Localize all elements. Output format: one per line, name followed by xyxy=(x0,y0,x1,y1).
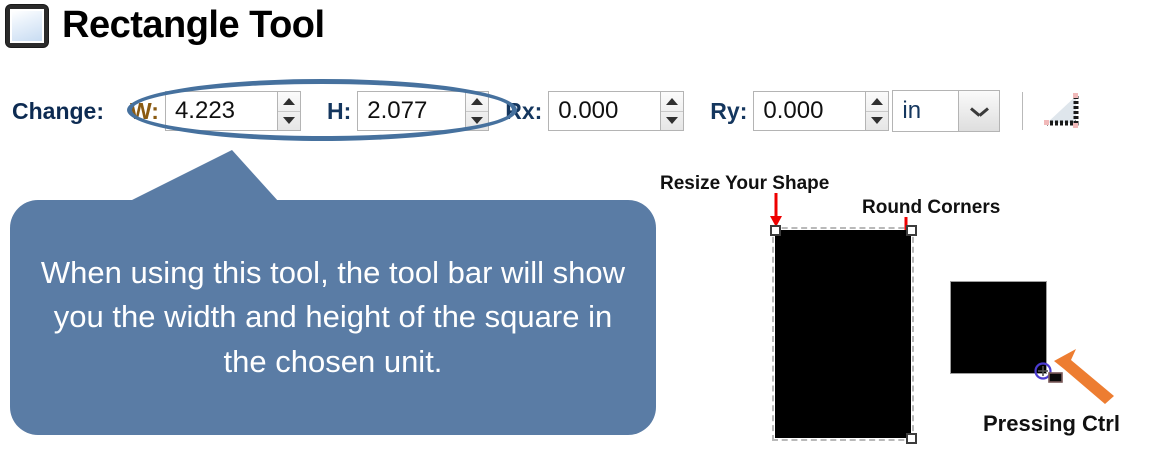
triangle-up-icon xyxy=(471,98,483,105)
height-label: H: xyxy=(327,98,351,125)
red-arrow-down-icon xyxy=(768,193,784,229)
unit-select-value: in xyxy=(893,91,958,131)
rx-label: Rx: xyxy=(505,98,542,125)
shape-toolbar: Change: W: 4.223 H: 2.077 Rx: 0.000 xyxy=(12,88,1083,134)
height-input[interactable]: 2.077 xyxy=(357,91,465,131)
resize-label: Resize Your Shape xyxy=(660,173,829,195)
callout-body: When using this tool, the tool bar will … xyxy=(10,200,656,435)
selected-rectangle-shape[interactable] xyxy=(775,230,911,438)
width-spin-buttons[interactable] xyxy=(277,91,301,131)
rectangle-tool-icon-fill xyxy=(10,9,44,43)
triangle-down-icon xyxy=(666,117,678,124)
sharp-corner-icon[interactable] xyxy=(1043,93,1083,129)
page-title-row: Rectangle Tool xyxy=(6,4,325,47)
width-label: W: xyxy=(130,98,159,125)
height-spin-down[interactable] xyxy=(466,112,488,131)
ry-spin-buttons[interactable] xyxy=(865,91,889,131)
height-stepper[interactable]: 2.077 xyxy=(357,91,489,131)
page-title: Rectangle Tool xyxy=(62,4,325,47)
triangle-up-icon xyxy=(283,98,295,105)
width-input[interactable]: 4.223 xyxy=(165,91,277,131)
pressing-ctrl-label: Pressing Ctrl xyxy=(983,411,1120,437)
resize-handle-top-left[interactable] xyxy=(770,225,781,236)
unit-select[interactable]: in xyxy=(892,90,1000,132)
rx-input[interactable]: 0.000 xyxy=(548,91,660,131)
triangle-up-icon xyxy=(871,98,883,105)
ry-spin-up[interactable] xyxy=(866,92,888,112)
resize-handle-bottom-right[interactable] xyxy=(906,433,917,444)
ry-input[interactable]: 0.000 xyxy=(753,91,865,131)
rectangle-tool-instruction-graphic: Rectangle Tool Change: W: 4.223 H: 2.077… xyxy=(0,0,1149,455)
callout-text: When using this tool, the tool bar will … xyxy=(10,251,656,383)
triangle-down-icon xyxy=(871,117,883,124)
triangle-up-icon xyxy=(666,98,678,105)
width-stepper[interactable]: 4.223 xyxy=(165,91,301,131)
rx-spin-buttons[interactable] xyxy=(660,91,684,131)
square-shape[interactable] xyxy=(951,282,1046,373)
rectangle-tool-icon xyxy=(6,5,48,47)
rx-spin-up[interactable] xyxy=(661,92,683,112)
rx-stepper[interactable]: 0.000 xyxy=(548,91,684,131)
width-spin-down[interactable] xyxy=(278,112,300,131)
ry-stepper[interactable]: 0.000 xyxy=(753,91,889,131)
height-spin-buttons[interactable] xyxy=(465,91,489,131)
width-spin-up[interactable] xyxy=(278,92,300,112)
triangle-down-icon xyxy=(471,117,483,124)
ry-label: Ry: xyxy=(710,98,747,125)
chevron-down-icon xyxy=(972,107,987,116)
toolbar-divider xyxy=(1022,92,1023,130)
change-label: Change: xyxy=(12,98,104,125)
rx-spin-down[interactable] xyxy=(661,112,683,131)
round-corner-handle-top-right[interactable] xyxy=(906,225,917,236)
unit-select-button[interactable] xyxy=(958,91,999,131)
triangle-down-icon xyxy=(283,117,295,124)
ry-spin-down[interactable] xyxy=(866,112,888,131)
height-spin-up[interactable] xyxy=(466,92,488,112)
orange-arrow-icon xyxy=(1052,345,1116,405)
round-corners-label: Round Corners xyxy=(862,197,1000,219)
